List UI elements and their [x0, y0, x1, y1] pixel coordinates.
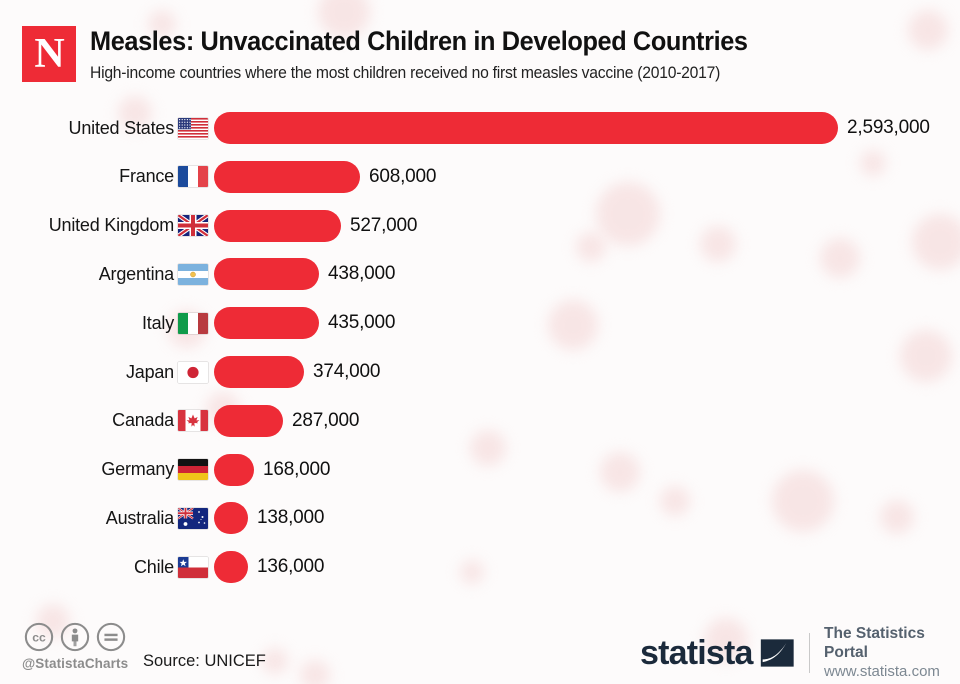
value-bar [214, 502, 248, 534]
country-label: Australia [0, 508, 174, 529]
value-bar [214, 161, 360, 193]
value-bar [214, 307, 319, 339]
value-label: 287,000 [292, 410, 359, 432]
footer: cc @StatistaCharts Source: UNICEF statis… [0, 608, 960, 684]
value-label: 138,000 [257, 507, 324, 529]
country-label: Canada [0, 410, 174, 431]
chart-row: Australia 138,000 [0, 498, 960, 538]
country-label: United Kingdom [0, 215, 174, 236]
value-label: 527,000 [350, 215, 417, 237]
value-bar [214, 405, 283, 437]
flag-canada-icon [178, 410, 208, 431]
flag-chile-icon [178, 557, 208, 578]
statista-tagline: The Statistics Portal www.statista.com [824, 624, 960, 682]
newsweek-logo-letter: N [34, 33, 63, 75]
value-label: 435,000 [328, 312, 395, 334]
flag-united-kingdom-icon [178, 215, 208, 236]
chart-row: France 608,000 [0, 157, 960, 197]
flag-australia-icon [178, 508, 208, 529]
chart-row: Italy 435,000 [0, 303, 960, 343]
chart-row: Chile 136,000 [0, 547, 960, 587]
statista-handle: @StatistaCharts [22, 656, 128, 671]
flag-germany-icon [178, 459, 208, 480]
divider [809, 633, 810, 673]
creative-commons-icons: cc [24, 622, 126, 652]
country-label: Argentina [0, 264, 174, 285]
bar-chart: United States 2,593,000France 608,000Uni… [0, 104, 960, 604]
value-label: 136,000 [257, 556, 324, 578]
cc-nd-icon [96, 622, 126, 652]
country-label: France [0, 166, 174, 187]
statista-portal-text: The Statistics Portal [824, 624, 960, 663]
newsweek-logo: N [22, 26, 76, 82]
value-label: 438,000 [328, 263, 395, 285]
chart-row: Canada 287,000 [0, 401, 960, 441]
value-label: 2,593,000 [847, 117, 930, 139]
value-bar [214, 258, 319, 290]
page-title: Measles: Unvaccinated Children in Develo… [90, 26, 748, 57]
page-subtitle: High-income countries where the most chi… [90, 64, 720, 83]
source-note: Source: UNICEF [143, 652, 266, 671]
chart-row: Japan 374,000 [0, 352, 960, 392]
statista-logo-mark [759, 636, 795, 670]
country-label: Chile [0, 557, 174, 578]
value-bar [214, 210, 341, 242]
country-label: Germany [0, 459, 174, 480]
country-label: United States [0, 118, 174, 139]
statista-branding: statista The Statistics Portal www.stati… [640, 624, 960, 682]
flag-japan-icon [178, 362, 208, 383]
creative-commons-icon: cc [24, 622, 54, 652]
chart-row: Argentina 438,000 [0, 254, 960, 294]
statista-wordmark: statista [640, 636, 753, 670]
value-bar [214, 356, 304, 388]
header: N Measles: Unvaccinated Children in Deve… [0, 0, 960, 100]
value-bar [214, 551, 248, 583]
infographic-page: N Measles: Unvaccinated Children in Deve… [0, 0, 960, 684]
chart-row: United Kingdom 527,000 [0, 206, 960, 246]
country-label: Italy [0, 313, 174, 334]
flag-united-states-icon [178, 118, 208, 139]
svg-text:cc: cc [32, 631, 46, 645]
cc-by-icon [60, 622, 90, 652]
value-label: 608,000 [369, 166, 436, 188]
value-bar [214, 112, 838, 144]
chart-row: United States 2,593,000 [0, 108, 960, 148]
flag-france-icon [178, 166, 208, 187]
statista-url-text: www.statista.com [824, 663, 960, 682]
flag-argentina-icon [178, 264, 208, 285]
value-label: 168,000 [263, 459, 330, 481]
country-label: Japan [0, 362, 174, 383]
value-label: 374,000 [313, 361, 380, 383]
chart-row: Germany 168,000 [0, 450, 960, 490]
flag-italy-icon [178, 313, 208, 334]
value-bar [214, 454, 254, 486]
